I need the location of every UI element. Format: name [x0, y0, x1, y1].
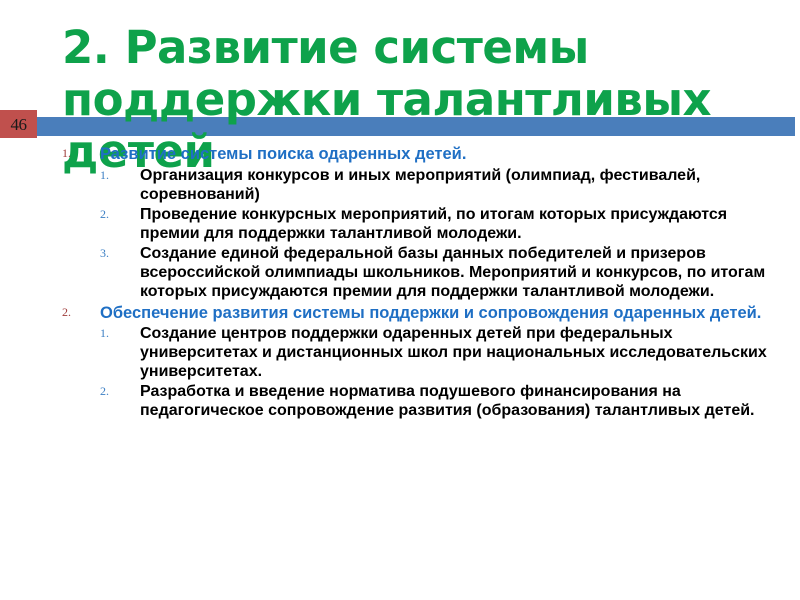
outline-item-2: 2. Обеспечение развития системы поддержк…	[0, 304, 800, 421]
outline-marker-2-1: 1.	[100, 326, 126, 341]
outline-list-level2: 1. Организация конкурсов и иных мероприя…	[100, 166, 792, 301]
outline-text-1-1: Организация конкурсов и иных мероприятий…	[140, 166, 786, 204]
outline-marker-2-2: 2.	[100, 384, 126, 399]
outline-marker-1-3: 3.	[100, 246, 126, 261]
outline-text-1-2: Проведение конкурсных мероприятий, по ит…	[140, 205, 786, 243]
outline-list-level2-b: 1. Создание центров поддержки одаренных …	[100, 324, 792, 420]
outline-text-1-3: Создание единой федеральной базы данных …	[140, 244, 786, 301]
outline-item-2-1: 1. Создание центров поддержки одаренных …	[100, 324, 792, 381]
outline-marker-1: 1.	[62, 146, 88, 161]
outline-item-1-2: 2. Проведение конкурсных мероприятий, по…	[100, 205, 792, 243]
slide-number-label: 46	[11, 116, 27, 133]
outline-item-1-3: 3. Создание единой федеральной базы данн…	[100, 244, 792, 301]
outline-marker-2: 2.	[62, 305, 88, 320]
outline-text-2-1: Создание центров поддержки одаренных дет…	[140, 324, 786, 381]
outline-marker-1-2: 2.	[100, 207, 126, 222]
outline-list-level1: 1. Развитие системы поиска одаренных дет…	[0, 145, 800, 420]
header-decorative-band	[37, 117, 795, 136]
presentation-slide: 46 2. Развитие системы поддержки талантл…	[0, 0, 800, 600]
outline-item-2-2: 2. Разработка и введение норматива подуш…	[100, 382, 792, 420]
outline-item-1-1: 1. Организация конкурсов и иных мероприя…	[100, 166, 792, 204]
outline-item-1: 1. Развитие системы поиска одаренных дет…	[0, 145, 800, 301]
slide-body: 1. Развитие системы поиска одаренных дет…	[0, 145, 800, 423]
outline-marker-1-1: 1.	[100, 168, 126, 183]
outline-text-1: Развитие системы поиска одаренных детей.	[100, 145, 792, 165]
outline-text-2: Обеспечение развития системы поддержки и…	[100, 304, 792, 324]
outline-text-2-2: Разработка и введение норматива подушево…	[140, 382, 786, 420]
slide-number-badge: 46	[0, 110, 37, 138]
